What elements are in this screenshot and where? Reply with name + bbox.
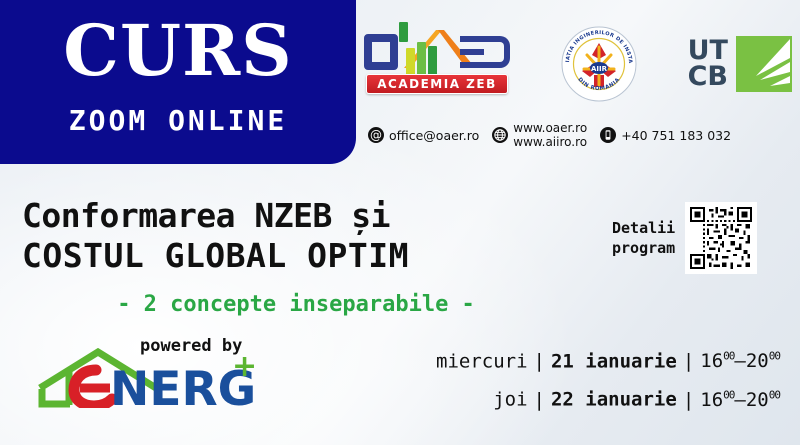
oaer-energy-bar-2	[417, 42, 426, 76]
utcb-logo: UT CB	[688, 36, 792, 92]
oaer-letter-r	[488, 36, 510, 68]
contact-websites[interactable]: www.oaer.ro www.aiiro.ro	[492, 121, 587, 149]
globe-icon	[492, 127, 508, 143]
website-1: www.oaer.ro	[513, 121, 587, 135]
schedule-date-2: 22 ianuarie	[551, 389, 677, 411]
schedule-sep-2b: |	[677, 389, 700, 411]
schedule-list: miercuri|21 ianuarie|1600–2000 joi|22 ia…	[320, 340, 780, 417]
schedule-sep-1a: |	[528, 350, 551, 372]
schedule-row-1: miercuri|21 ianuarie|1600–2000	[320, 340, 780, 378]
details-label-line-1: Detalii	[612, 218, 675, 238]
oaer-logo: ACADEMIA ZEB	[362, 20, 510, 108]
schedule-time-2: 1600–2000	[700, 389, 780, 411]
schedule-start-1: 16	[700, 350, 723, 372]
schedule-start-sup-2: 00	[723, 388, 734, 401]
header-banner: CURS ZOOM ONLINE	[0, 0, 356, 164]
schedule-dash-2: –	[734, 389, 745, 411]
oaer-energy-bar-1	[406, 48, 415, 76]
at-sign-icon: @	[368, 127, 384, 143]
oaer-letter-e	[460, 36, 490, 68]
schedule-date-1: 21 ianuarie	[551, 350, 677, 372]
schedule-end-sup-1: 00	[769, 350, 780, 363]
delivery-mode-label: ZOOM ONLINE	[0, 104, 356, 137]
schedule-end-sup-2: 00	[769, 388, 780, 401]
schedule-end-1: 20	[746, 350, 769, 372]
website-texts: www.oaer.ro www.aiiro.ro	[513, 121, 587, 149]
schedule-sep-1b: |	[677, 350, 700, 372]
details-block[interactable]: Detalii program	[612, 202, 757, 274]
oaer-energy-bar-3	[428, 46, 437, 76]
energ-plus-mark: NERG +	[36, 348, 261, 408]
schedule-time-1: 1600–2000	[700, 350, 780, 372]
details-label: Detalii program	[612, 218, 675, 258]
energ-plus-logo: powered by NERG +	[36, 334, 261, 408]
contact-row: @ office@oaer.ro www.oaer.ro www.aiiro.r…	[368, 116, 792, 154]
event-title-line-2: COSTUL GLOBAL OPTIM	[22, 236, 582, 276]
utcb-green-square-icon	[736, 36, 792, 92]
utcb-line-2: CB	[688, 64, 728, 90]
oaer-wordmark	[362, 20, 510, 78]
contact-email[interactable]: @ office@oaer.ro	[368, 127, 479, 143]
schedule-sep-2a: |	[528, 389, 551, 411]
oaer-letter-o	[364, 34, 398, 70]
event-title-line-1: Conformarea NZEB și	[22, 196, 582, 236]
contact-phone[interactable]: +40 751 183 032	[600, 127, 731, 143]
schedule-day-1: miercuri	[436, 350, 528, 372]
aiir-abbr-text: AIIR	[591, 65, 608, 73]
schedule-start-2: 16	[700, 389, 723, 411]
aiir-logo: AIIR ASOCIATIA INGINERILOR DE INSTALATII…	[560, 25, 638, 103]
energ-plus-text: +	[232, 349, 257, 384]
schedule-end-2: 20	[746, 389, 769, 411]
academia-zeb-banner: ACADEMIA ZEB	[366, 74, 508, 94]
schedule-start-sup-1: 00	[723, 350, 734, 363]
website-2: www.aiiro.ro	[513, 135, 587, 149]
page-title: CURS	[0, 16, 356, 86]
email-text: office@oaer.ro	[389, 128, 479, 143]
schedule-row-2: joi|22 ianuarie|1600–2000	[320, 378, 780, 416]
partner-logos: ACADEMIA ZEB AIIR ASOCIATIA INGINERILOR …	[362, 16, 792, 112]
phone-text: +40 751 183 032	[621, 128, 731, 143]
svg-text:@: @	[370, 128, 382, 142]
event-title: Conformarea NZEB și COSTUL GLOBAL OPTIM	[22, 196, 582, 276]
qr-code[interactable]	[685, 202, 757, 274]
schedule-day-2: joi	[493, 389, 527, 411]
details-label-line-2: program	[612, 238, 675, 258]
phone-icon	[600, 127, 616, 143]
utcb-wordmark: UT CB	[688, 38, 728, 90]
event-subtitle: - 2 concepte inseparabile -	[22, 292, 570, 317]
oaer-energy-bar-0	[399, 22, 408, 42]
schedule-dash-1: –	[734, 350, 745, 372]
